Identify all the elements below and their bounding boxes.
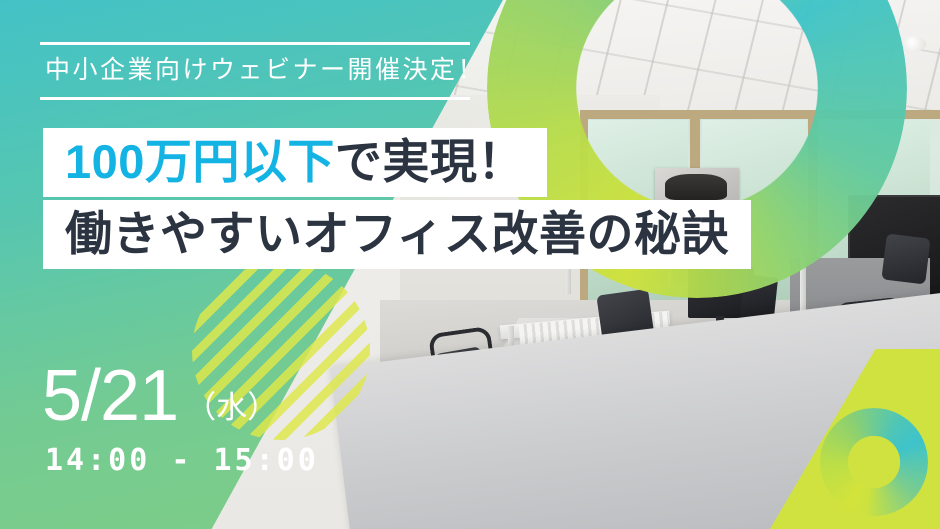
eyebrow-text: 中小企業向けウェビナー開催決定！	[40, 45, 470, 97]
eyebrow-block: 中小企業向けウェビナー開催決定！	[40, 42, 470, 100]
event-day-of-week: （水）	[178, 392, 278, 429]
headline-rest-text: で実現！	[335, 135, 525, 188]
webinar-banner: 中小企業向けウェビナー開催決定！ 100万円以下で実現！ 働きやすいオフィス改善…	[0, 0, 940, 529]
event-date: 5/21	[42, 363, 178, 429]
headline-accent-text: 100万円以下	[65, 135, 335, 188]
headline-line-2-text: 働きやすいオフィス改善の秘訣	[65, 207, 729, 260]
headline-line-2: 働きやすいオフィス改善の秘訣	[43, 200, 751, 269]
headline-line-1: 100万円以下で実現！	[43, 128, 547, 197]
schedule-block: 5/21 （水） 14:00 - 15:00	[42, 363, 319, 478]
event-time: 14:00 - 15:00	[42, 429, 319, 478]
rule-bottom	[40, 97, 470, 100]
